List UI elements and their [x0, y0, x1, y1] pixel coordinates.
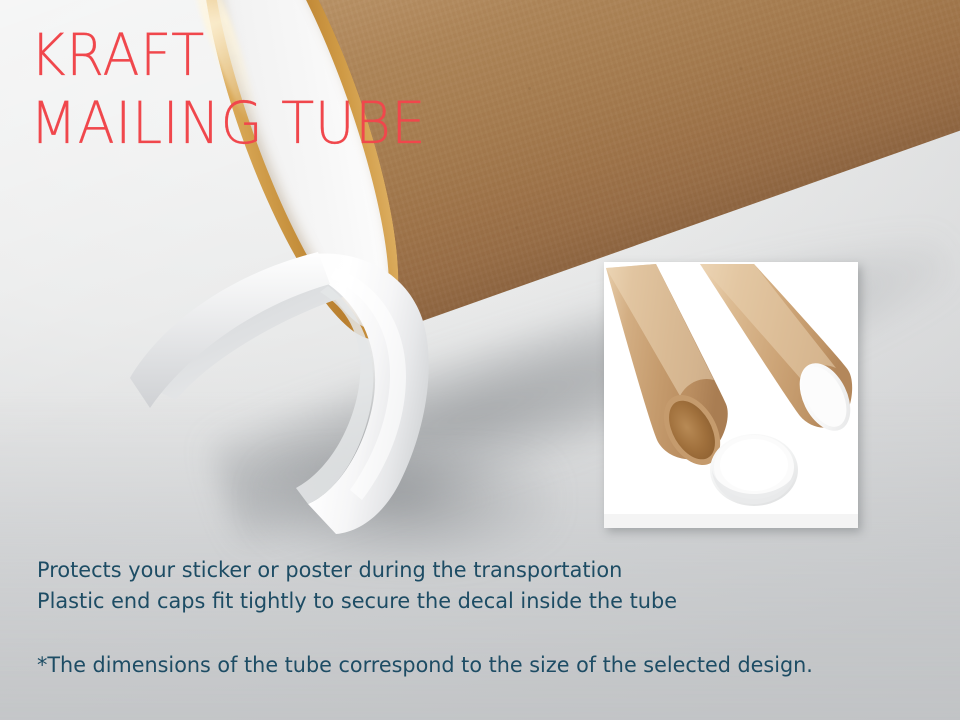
- feature-line-2: Plastic end caps fit tightly to secure t…: [37, 587, 677, 618]
- rolled-poster-sheet: [122, 250, 442, 535]
- product-detail-photo[interactable]: [604, 262, 858, 528]
- feature-line-1: Protects your sticker or poster during t…: [37, 556, 677, 587]
- page-title: KRAFT MAILING TUBE: [30, 28, 452, 151]
- banner-canvas: KRAFT MAILING TUBE: [0, 0, 960, 720]
- inset-loose-end-cap: [710, 434, 798, 506]
- footnote-text: *The dimensions of the tube correspond t…: [37, 652, 813, 680]
- inset-photo-canvas: [604, 262, 858, 528]
- headline-line-2: MAILING TUBE: [30, 96, 426, 152]
- headline-line-1: KRAFT: [30, 28, 426, 84]
- footnote: *The dimensions of the tube correspond t…: [37, 652, 841, 680]
- feature-description: Protects your sticker or poster during t…: [37, 556, 697, 617]
- sheet-leading-edge: [130, 252, 330, 408]
